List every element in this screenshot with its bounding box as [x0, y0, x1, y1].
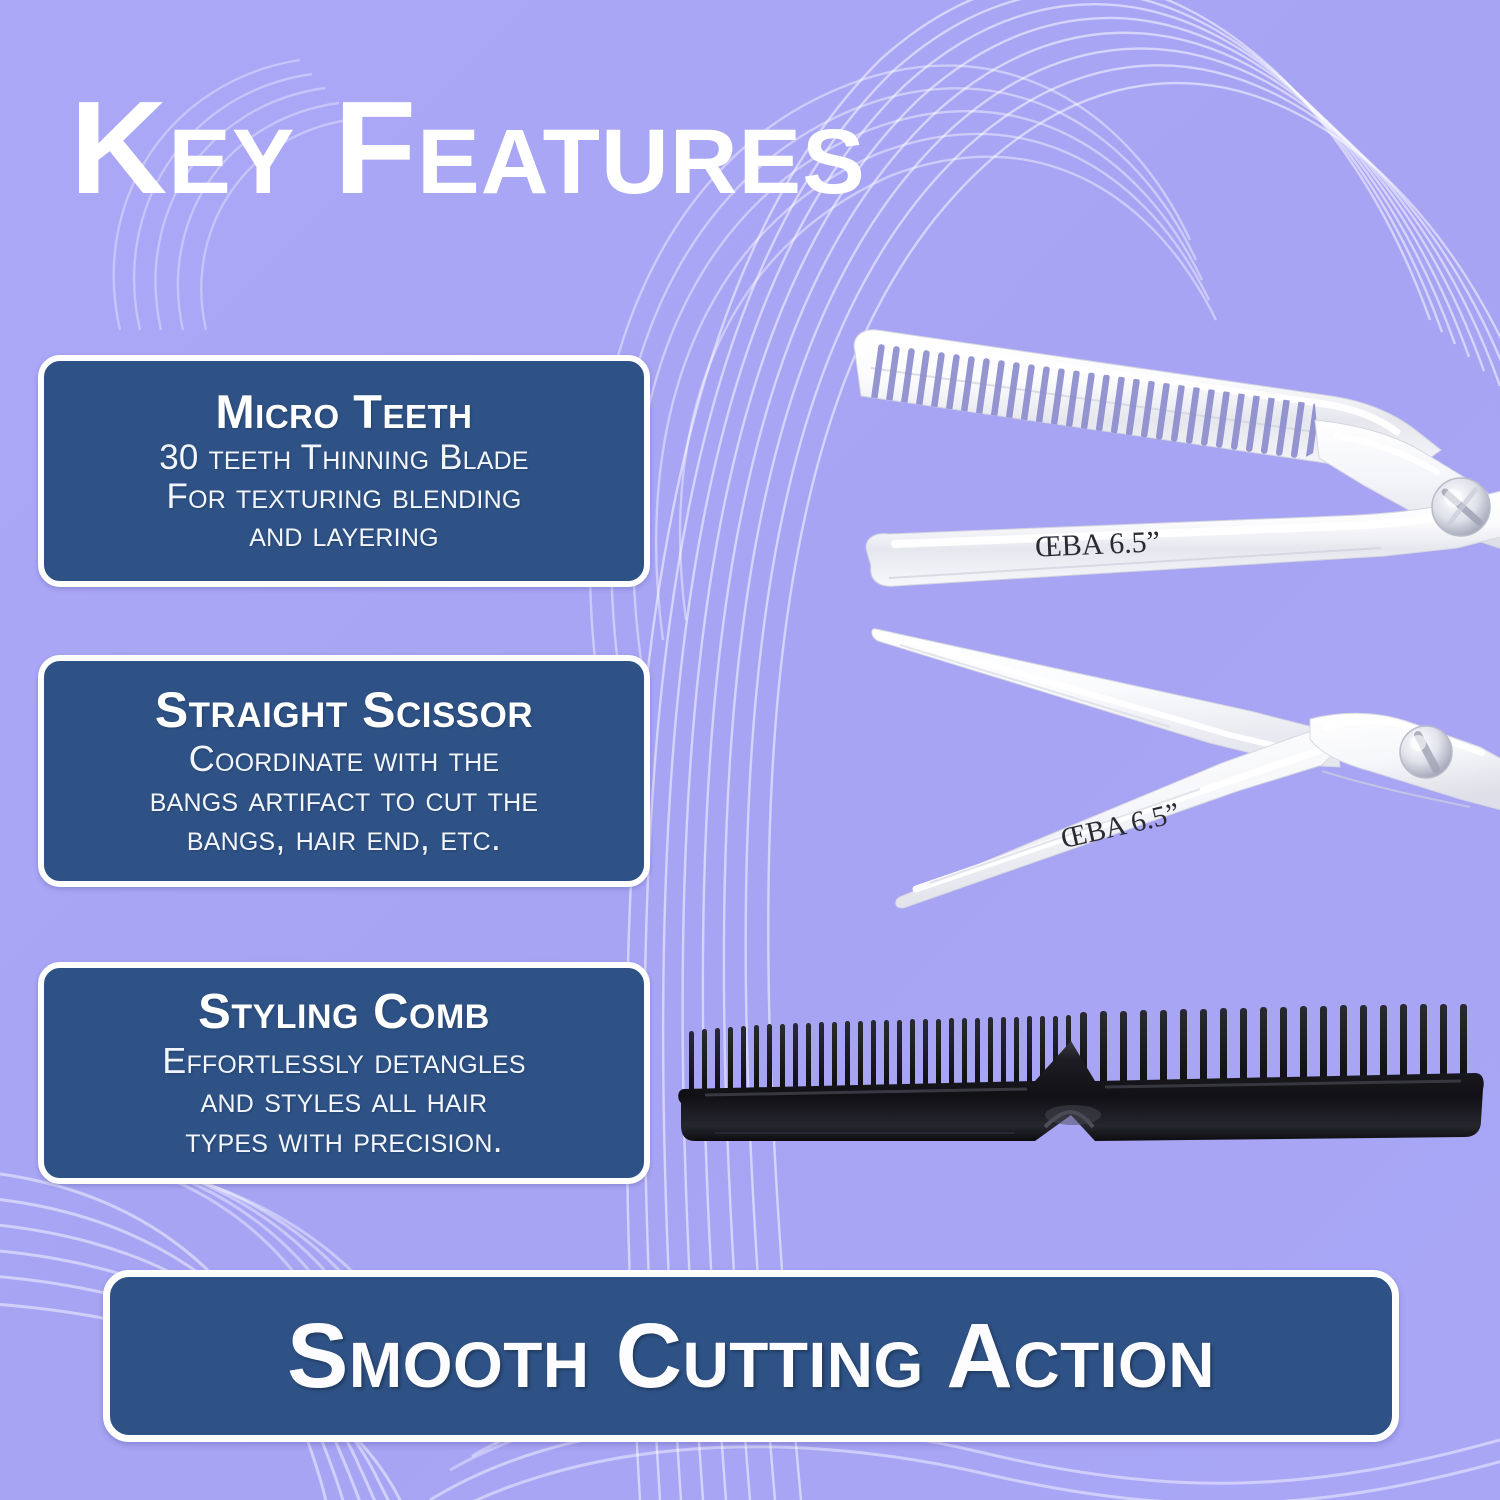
- infographic-page: Key Features Micro Teeth 30 teeth Thinni…: [0, 0, 1500, 1500]
- feature-line: types with precision.: [162, 1120, 526, 1160]
- banner-text: Smooth Cutting Action: [287, 1310, 1215, 1402]
- feature-card-styling-comb: Styling Comb Effortlessly detangles and …: [38, 962, 650, 1184]
- feature-card-title: Straight Scissor: [155, 684, 533, 737]
- feature-line: bangs, hair end, etc.: [150, 818, 539, 858]
- feature-line: 30 teeth Thinning Blade: [159, 439, 529, 478]
- smooth-cutting-action-banner: Smooth Cutting Action: [103, 1270, 1399, 1442]
- feature-card-body: 30 teeth Thinning Blade For texturing bl…: [159, 439, 529, 555]
- feature-card-micro-teeth: Micro Teeth 30 teeth Thinning Blade For …: [38, 355, 650, 587]
- page-title: Key Features: [70, 82, 1396, 214]
- feature-line: Coordinate with the: [150, 739, 539, 779]
- thinning-shear-image: [845, 300, 1500, 620]
- feature-line: For texturing blending: [159, 478, 529, 517]
- feature-card-body: Coordinate with the bangs artifact to cu…: [150, 739, 539, 858]
- feature-card-title: Micro Teeth: [216, 387, 473, 437]
- styling-comb-image: [675, 995, 1485, 1175]
- feature-line: bangs artifact to cut the: [150, 779, 539, 819]
- feature-line: and styles all hair: [162, 1080, 526, 1120]
- feature-card-straight-scissor: Straight Scissor Coordinate with the ban…: [38, 655, 650, 887]
- feature-card-body: Effortlessly detangles and styles all ha…: [162, 1041, 526, 1160]
- pivot-screw-icon: [1400, 726, 1452, 778]
- straight-scissor-image: [870, 615, 1500, 915]
- feature-card-title: Styling Comb: [198, 987, 490, 1039]
- feature-line: Effortlessly detangles: [162, 1041, 526, 1081]
- pivot-screw-icon: [1432, 478, 1490, 536]
- feature-line: and layering: [159, 516, 529, 555]
